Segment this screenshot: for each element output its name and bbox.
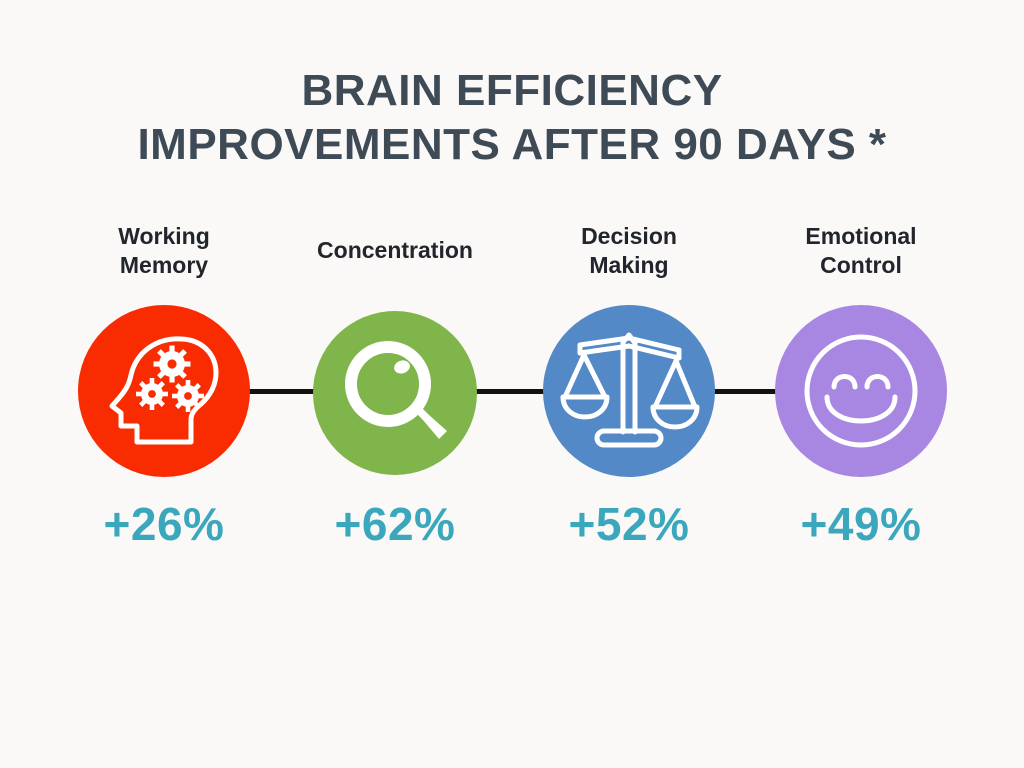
icon-circle-emotional-control[interactable]: [775, 305, 947, 477]
metric-label-concentration: Concentration: [275, 236, 515, 265]
metric-label-line-1: Concentration: [275, 236, 515, 265]
icon-circle-concentration[interactable]: [313, 311, 477, 475]
metric-value-emotional-control: +49%: [741, 497, 981, 551]
metric-label-emotional-control: Emotional Control: [741, 222, 981, 280]
infographic-canvas: BRAIN EFFICIENCY IMPROVEMENTS AFTER 90 D…: [0, 0, 1024, 768]
title-line-1: BRAIN EFFICIENCY: [0, 64, 1024, 118]
metric-value-decision-making: +52%: [509, 497, 749, 551]
metric-node-working-memory[interactable]: Working Memory: [44, 222, 284, 572]
metric-label-line-1: Decision: [509, 222, 749, 251]
metrics-chain: Working Memory: [0, 222, 1024, 572]
metric-label-line-2: Control: [741, 251, 981, 280]
icon-circle-working-memory[interactable]: [78, 305, 250, 477]
metric-label-decision-making: Decision Making: [509, 222, 749, 280]
icon-circle-wrap-decision-making: [509, 305, 749, 485]
metric-node-decision-making[interactable]: Decision Making: [509, 222, 749, 572]
balance-scales-icon: [543, 305, 715, 477]
smiley-face-icon: [775, 305, 947, 477]
title-line-2: IMPROVEMENTS AFTER 90 DAYS *: [0, 118, 1024, 172]
head-gears-icon: [78, 305, 250, 477]
icon-circle-wrap-emotional-control: [741, 305, 981, 485]
gears-group: [136, 346, 204, 413]
metric-node-concentration[interactable]: Concentration +62%: [275, 222, 515, 572]
page-title: BRAIN EFFICIENCY IMPROVEMENTS AFTER 90 D…: [0, 64, 1024, 171]
metric-label-line-1: Working: [44, 222, 284, 251]
metric-value-working-memory: +26%: [44, 497, 284, 551]
icon-circle-wrap-working-memory: [44, 305, 284, 485]
icon-circle-wrap-concentration: [275, 305, 515, 485]
icon-circle-decision-making[interactable]: [543, 305, 715, 477]
metric-node-emotional-control[interactable]: Emotional Control +49%: [741, 222, 981, 572]
metric-label-line-1: Emotional: [741, 222, 981, 251]
metric-label-line-2: Making: [509, 251, 749, 280]
metric-label-working-memory: Working Memory: [44, 222, 284, 280]
metric-label-line-2: Memory: [44, 251, 284, 280]
metric-value-concentration: +62%: [275, 497, 515, 551]
magnifier-icon: [313, 311, 477, 475]
